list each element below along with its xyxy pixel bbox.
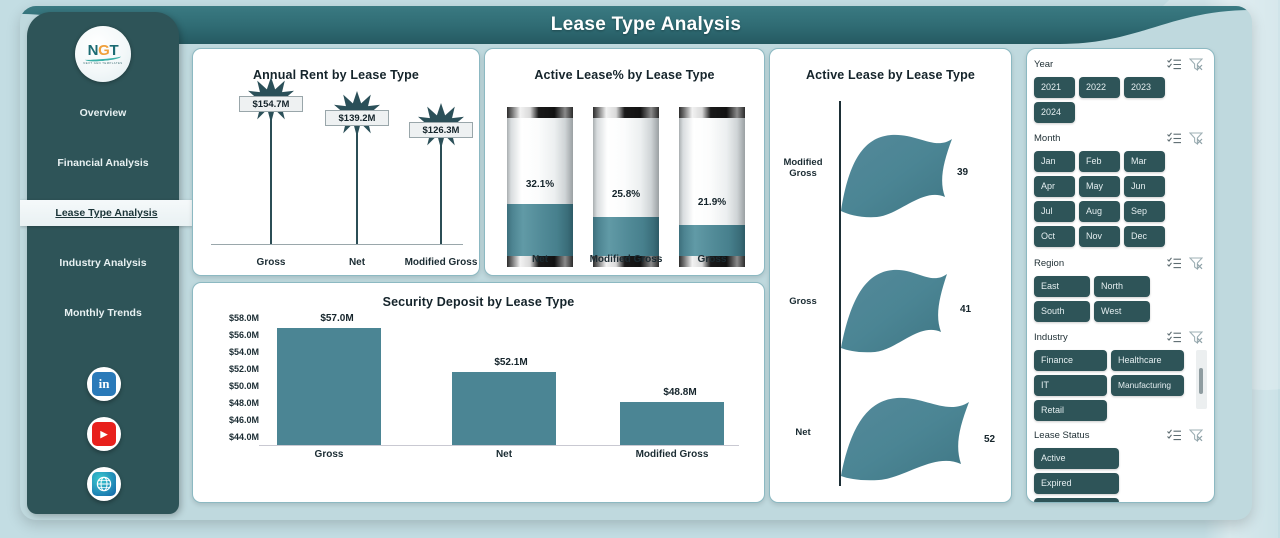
x-tick-label-net: Net	[500, 254, 580, 265]
y-tick-label-modified-gross: ModifiedGross	[772, 157, 834, 179]
filter-option-east[interactable]: East	[1034, 276, 1090, 297]
clear-filter-icon[interactable]	[1185, 131, 1207, 147]
filter-header: Region	[1034, 254, 1207, 273]
bar-modified-gross[interactable]	[620, 402, 724, 445]
cylinder-gauge[interactable]: 21.9%	[679, 107, 745, 267]
dashboard-canvas: Lease Type Analysis NGT NEXT GEN TEMPLAT…	[0, 0, 1280, 538]
x-tick-label-modified-gross: Modified Gross	[586, 254, 666, 265]
sidebar-item-label: Industry Analysis	[59, 257, 146, 269]
cylinder-cap-top	[507, 107, 573, 118]
clear-filter-icon[interactable]	[1185, 428, 1207, 444]
filter-option-retail[interactable]: Retail	[1034, 400, 1107, 421]
flag-bar-row[interactable]: Net 52	[770, 382, 1012, 492]
x-tick-label-net: Net	[464, 449, 544, 460]
chart-title-active-lease-count: Active Lease by Lease Type	[770, 68, 1011, 82]
filter-option-jan[interactable]: Jan	[1034, 151, 1075, 172]
cylinder-cap-top	[593, 107, 659, 118]
filter-title-month: Month	[1034, 133, 1163, 144]
data-label: 32.1%	[507, 179, 573, 190]
youtube-glyph: ▶	[92, 422, 116, 446]
filter-group-lease-status: Lease Status Active Expired Renewed Term…	[1034, 426, 1207, 503]
chart-title-active-lease-pct: Active Lease% by Lease Type	[485, 68, 764, 82]
flag-shape-icon	[839, 252, 951, 367]
filter-group-year: Year 2021 2022 2023 2024	[1034, 55, 1207, 123]
sidebar-item-label: Financial Analysis	[57, 157, 148, 169]
security-deposit-plot	[259, 319, 739, 445]
industry-scroll-region: Finance Healthcare IT Manufacturing Reta…	[1034, 347, 1207, 421]
filter-option-2023[interactable]: 2023	[1124, 77, 1165, 98]
sidebar-item-industry-analysis[interactable]: Industry Analysis	[27, 250, 179, 276]
filter-option-may[interactable]: May	[1079, 176, 1120, 197]
filter-panel: Year 2021 2022 2023 2024	[1026, 48, 1215, 503]
cylinder-gauge[interactable]: 32.1%	[507, 107, 573, 267]
checklist-icon[interactable]	[1163, 428, 1185, 444]
data-label: $126.3M	[409, 122, 473, 138]
chart-card-annual-rent: Annual Rent by Lease Type $154.7M $139.2…	[192, 48, 480, 276]
y-tick-label: $50.0M	[205, 381, 259, 391]
filter-option-north[interactable]: North	[1094, 276, 1150, 297]
y-tick-label: $44.0M	[205, 432, 259, 442]
bar-gross[interactable]	[277, 328, 381, 445]
filter-option-nov[interactable]: Nov	[1079, 226, 1120, 247]
flag-bar-row[interactable]: ModifiedGross	[770, 119, 1012, 229]
filter-option-aug[interactable]: Aug	[1079, 201, 1120, 222]
data-label-gross: $57.0M	[297, 313, 377, 324]
y-tick-label-gross: Gross	[772, 296, 834, 307]
dashboard-page: Lease Type Analysis NGT NEXT GEN TEMPLAT…	[20, 6, 1252, 520]
flag-bar-row[interactable]: Gross	[770, 252, 1012, 362]
sidebar-item-monthly-trends[interactable]: Monthly Trends	[27, 300, 179, 326]
checklist-icon[interactable]	[1163, 330, 1185, 346]
industry-scrollbar[interactable]	[1196, 350, 1207, 409]
flag-shape-icon	[839, 382, 975, 497]
filter-option-west[interactable]: West	[1094, 301, 1150, 322]
data-label: $139.2M	[325, 110, 389, 126]
chart-card-active-lease-pct: Active Lease% by Lease Type 32.1% 25.8%	[484, 48, 765, 276]
filter-header: Industry	[1034, 328, 1207, 347]
y-tick-label-net: Net	[772, 427, 834, 438]
sidebar-item-lease-type-analysis[interactable]: Lease Type Analysis	[20, 200, 193, 226]
filter-options-year: 2021 2022 2023 2024	[1034, 74, 1207, 123]
cylinder-cap-top	[679, 107, 745, 118]
x-tick-label-gross: Gross	[231, 257, 311, 268]
data-label-net: $52.1M	[471, 357, 551, 368]
y-tick-label: $46.0M	[205, 415, 259, 425]
filter-title-year: Year	[1034, 59, 1163, 70]
filter-option-oct[interactable]: Oct	[1034, 226, 1075, 247]
sidebar-item-overview[interactable]: Overview	[27, 100, 179, 126]
header-banner: Lease Type Analysis	[20, 6, 1252, 44]
filter-option-2021[interactable]: 2021	[1034, 77, 1075, 98]
x-tick-label-gross: Gross	[672, 254, 752, 265]
filter-option-active[interactable]: Active	[1034, 448, 1119, 469]
sidebar-item-label: Overview	[80, 107, 127, 119]
filter-header: Month	[1034, 129, 1207, 148]
x-tick-label-modified-gross: Modified Gross	[401, 257, 480, 268]
filter-option-feb[interactable]: Feb	[1079, 151, 1120, 172]
x-axis-line	[211, 244, 463, 245]
annual-rent-plot: $154.7M $139.2M $126.3M	[211, 95, 463, 245]
clear-filter-icon[interactable]	[1185, 57, 1207, 73]
filter-options-month: Jan Feb Mar Apr May Jun Jul Aug Sep Oct …	[1034, 148, 1207, 247]
cylinder-gauge[interactable]: 25.8%	[593, 107, 659, 267]
filter-options-lease-status: Active Expired Renewed Terminated	[1034, 445, 1207, 503]
filter-option-jul[interactable]: Jul	[1034, 201, 1075, 222]
filter-option-jun[interactable]: Jun	[1124, 176, 1165, 197]
x-tick-label-net: Net	[317, 257, 397, 268]
filter-header: Year	[1034, 55, 1207, 74]
youtube-icon[interactable]: ▶	[87, 417, 121, 451]
filter-title-industry: Industry	[1034, 332, 1163, 343]
y-tick-label: $56.0M	[205, 330, 259, 340]
sidebar: NGT NEXT GEN TEMPLATES Overview Financia…	[27, 12, 179, 514]
y-tick-label: $48.0M	[205, 398, 259, 408]
sidebar-item-financial-analysis[interactable]: Financial Analysis	[27, 150, 179, 176]
filter-options-industry: Finance Healthcare IT Manufacturing Reta…	[1034, 347, 1193, 421]
filter-group-industry: Industry Finance Healthcare IT Manufactu…	[1034, 328, 1207, 421]
filter-title-lease-status: Lease Status	[1034, 430, 1163, 441]
chart-title-security-deposit: Security Deposit by Lease Type	[193, 295, 764, 309]
sidebar-item-label: Monthly Trends	[64, 307, 142, 319]
active-lease-count-plot: ModifiedGross	[770, 97, 1012, 497]
filter-header: Lease Status	[1034, 426, 1207, 445]
filter-option-expired[interactable]: Expired	[1034, 473, 1119, 494]
clear-filter-icon[interactable]	[1185, 256, 1207, 272]
filter-option-apr[interactable]: Apr	[1034, 176, 1075, 197]
globe-glyph	[92, 472, 116, 496]
filter-title-region: Region	[1034, 258, 1163, 269]
filter-option-mar[interactable]: Mar	[1124, 151, 1165, 172]
chart-card-security-deposit: Security Deposit by Lease Type $58.0M $5…	[192, 282, 765, 503]
x-axis-line	[259, 445, 739, 446]
filter-option-it[interactable]: IT	[1034, 375, 1107, 396]
chart-title-annual-rent: Annual Rent by Lease Type	[193, 68, 479, 82]
linkedin-icon[interactable]: in	[87, 367, 121, 401]
linkedin-glyph: in	[92, 372, 116, 396]
page-title: Lease Type Analysis	[20, 6, 1252, 44]
data-label-modified-gross: $48.8M	[640, 387, 720, 398]
filter-option-2024[interactable]: 2024	[1034, 102, 1075, 123]
data-label: 41	[960, 304, 971, 315]
filter-option-south[interactable]: South	[1034, 301, 1090, 322]
flag-shape-icon	[839, 119, 957, 234]
website-globe-icon[interactable]	[87, 467, 121, 501]
data-label: $154.7M	[239, 96, 303, 112]
chart-card-active-lease-count: Active Lease by Lease Type ModifiedGross	[769, 48, 1012, 503]
filter-option-2022[interactable]: 2022	[1079, 77, 1120, 98]
filter-group-month: Month Jan Feb Mar Apr May Jun Jul	[1034, 129, 1207, 247]
checklist-icon[interactable]	[1163, 131, 1185, 147]
brand-logo: NGT NEXT GEN TEMPLATES	[75, 26, 131, 82]
filter-option-sep[interactable]: Sep	[1124, 201, 1165, 222]
industry-scrollbar-thumb[interactable]	[1199, 368, 1203, 394]
x-tick-label-gross: Gross	[289, 449, 369, 460]
filter-group-region: Region East North South West	[1034, 254, 1207, 322]
filter-option-dec[interactable]: Dec	[1124, 226, 1165, 247]
data-label: 52	[984, 434, 995, 445]
checklist-icon[interactable]	[1163, 57, 1185, 73]
clear-filter-icon[interactable]	[1185, 330, 1207, 346]
data-label: 39	[957, 167, 968, 178]
filter-options-region: East North South West	[1034, 273, 1207, 322]
y-tick-label: $52.0M	[205, 364, 259, 374]
filter-option-healthcare[interactable]: Healthcare	[1111, 350, 1184, 371]
data-label: 25.8%	[593, 189, 659, 200]
checklist-icon[interactable]	[1163, 256, 1185, 272]
active-lease-pct-plot: 32.1% 25.8% 21.9	[495, 101, 756, 276]
y-tick-label: $54.0M	[205, 347, 259, 357]
bar-net[interactable]	[452, 372, 556, 445]
data-label: 21.9%	[679, 197, 745, 208]
filter-option-manufacturing[interactable]: Manufacturing	[1111, 375, 1184, 396]
filter-option-renewed[interactable]: Renewed	[1034, 498, 1119, 503]
logo-subtitle: NEXT GEN TEMPLATES	[83, 62, 122, 65]
sidebar-item-label: Lease Type Analysis	[55, 207, 157, 219]
x-tick-label-modified-gross: Modified Gross	[632, 449, 712, 460]
y-tick-label: $58.0M	[205, 313, 259, 323]
filter-option-finance[interactable]: Finance	[1034, 350, 1107, 371]
